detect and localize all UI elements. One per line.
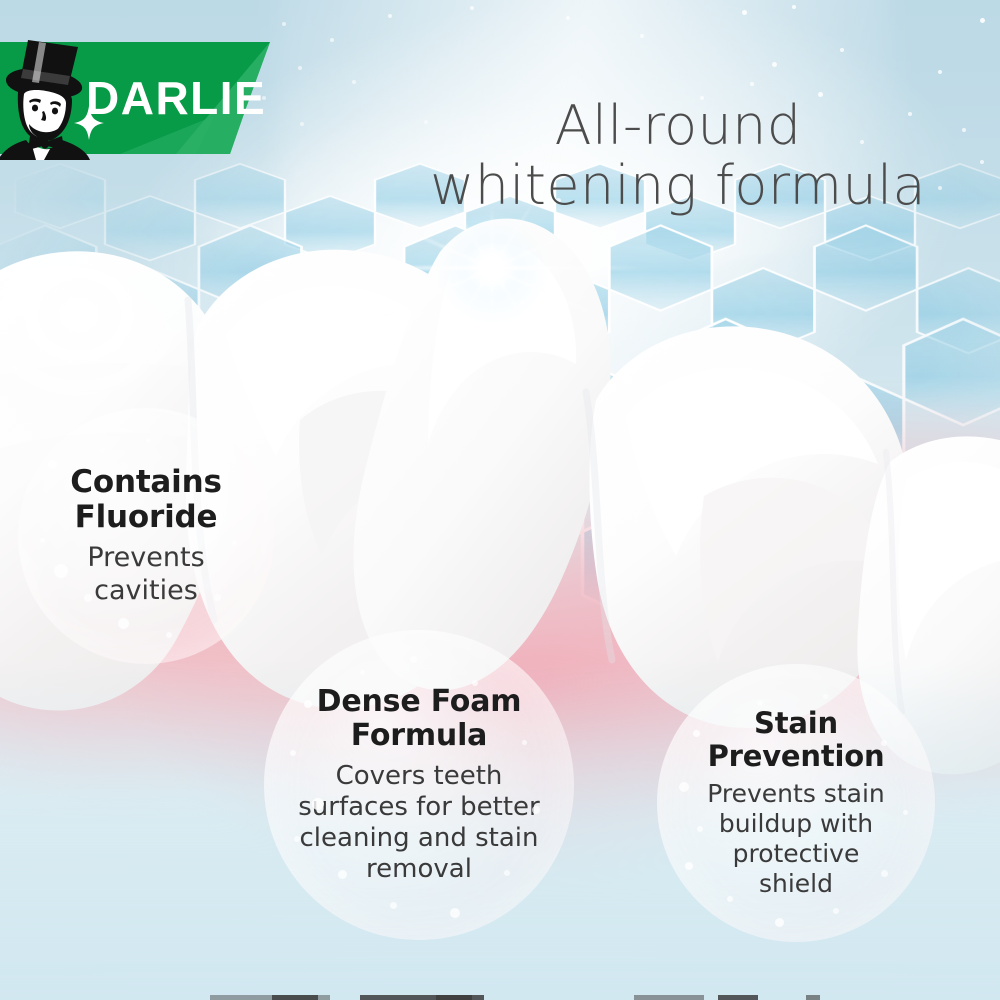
feature-bubble-stain-prevention[interactable]: Stain Prevention Prevents stain buildup … — [657, 664, 935, 942]
brand-wordmark: DARLIE — [86, 75, 266, 121]
bubble-sparkles — [18, 408, 274, 664]
headline-line-2: whitening formula — [430, 156, 926, 216]
feature-body-line-2: surfaces for better — [298, 792, 540, 822]
poster-canvas: DARLIE All-round whitening formula Conta… — [0, 0, 1000, 1000]
feature-body-line-1: Covers teeth — [336, 761, 503, 791]
feature-title-line-2: Prevention — [708, 739, 885, 773]
page-title: All-round whitening formula — [430, 96, 926, 217]
feature-body-line-2: cavities — [94, 575, 198, 606]
feature-title-line-2: Formula — [351, 718, 487, 753]
feature-body-line-2: buildup with — [719, 809, 873, 838]
feature-body: Prevents cavities — [87, 542, 204, 607]
feature-body-line-1: Prevents — [87, 542, 204, 573]
feature-body-line-3: cleaning and stain — [300, 823, 539, 853]
feature-body: Covers teeth surfaces for better cleanin… — [298, 761, 540, 886]
headline-line-1: All-round — [555, 94, 802, 157]
brand-logo[interactable]: DARLIE — [0, 42, 270, 154]
darlie-gentleman-mascot-icon — [0, 36, 94, 160]
feature-title: Contains Fluoride — [70, 465, 221, 535]
feature-body-line-4: shield — [759, 869, 833, 898]
feature-body-line-4: removal — [366, 854, 472, 884]
feature-title: Stain Prevention — [708, 707, 885, 773]
feature-title-line-1: Contains — [70, 464, 221, 500]
feature-body-line-3: protective — [733, 839, 860, 868]
feature-title-line-1: Dense Foam — [317, 684, 522, 719]
feature-bubble-dense-foam-formula[interactable]: Dense Foam Formula Covers teeth surfaces… — [264, 630, 574, 940]
feature-body: Prevents stain buildup with protective s… — [707, 779, 884, 899]
feature-title: Dense Foam Formula — [317, 685, 522, 753]
feature-bubble-contains-fluoride[interactable]: Contains Fluoride Prevents cavities — [18, 408, 274, 664]
feature-body-line-1: Prevents stain — [707, 779, 884, 808]
bottom-cropped-strip — [0, 994, 1000, 1000]
feature-title-line-1: Stain — [754, 706, 838, 740]
feature-title-line-2: Fluoride — [75, 499, 218, 535]
